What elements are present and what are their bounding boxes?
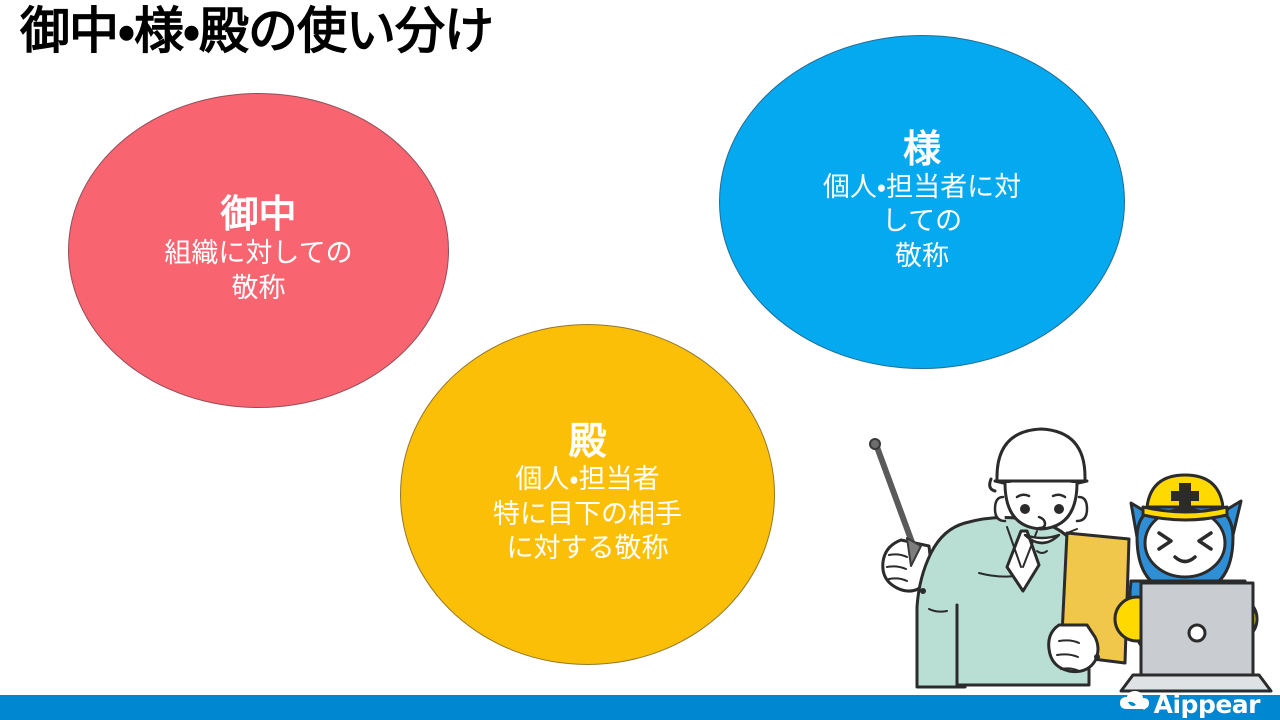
- worker-right-hand: [1049, 625, 1100, 672]
- bubble-onchu-description: 組織に対しての 敬称: [164, 237, 352, 306]
- bubble-dono: 殿 個人・担当者 特に目下の相手 に対する敬称: [400, 324, 775, 665]
- footer-bar: [0, 695, 1280, 720]
- slide-canvas: 御中・様・殿の使い分け 御中 組織に対しての 敬称 様 個人・担当者に対 しての…: [0, 0, 1280, 720]
- cloud-swoosh-icon: [1118, 690, 1150, 719]
- brand-logo: Aippear: [1118, 688, 1260, 720]
- bubble-sama: 様 個人・担当者に対 しての 敬称: [719, 35, 1125, 369]
- pointer-stick-icon: [870, 439, 913, 545]
- bubble-dono-heading: 殿: [568, 422, 606, 460]
- bubble-onchu: 御中 組織に対しての 敬称: [68, 93, 449, 408]
- laptop-icon: [1121, 583, 1271, 691]
- bubble-sama-description: 個人・担当者に対 しての 敬称: [823, 171, 1021, 275]
- illustration-worker-and-mascot: [845, 405, 1280, 705]
- bubble-onchu-heading: 御中: [220, 195, 296, 233]
- page-title: 御中・様・殿の使い分け: [20, 2, 493, 61]
- brand-name: Aippear: [1154, 690, 1260, 719]
- illustration-svg: [845, 405, 1280, 705]
- bubble-dono-description: 個人・担当者 特に目下の相手 に対する敬称: [493, 463, 682, 567]
- bubble-sama-heading: 様: [903, 130, 941, 168]
